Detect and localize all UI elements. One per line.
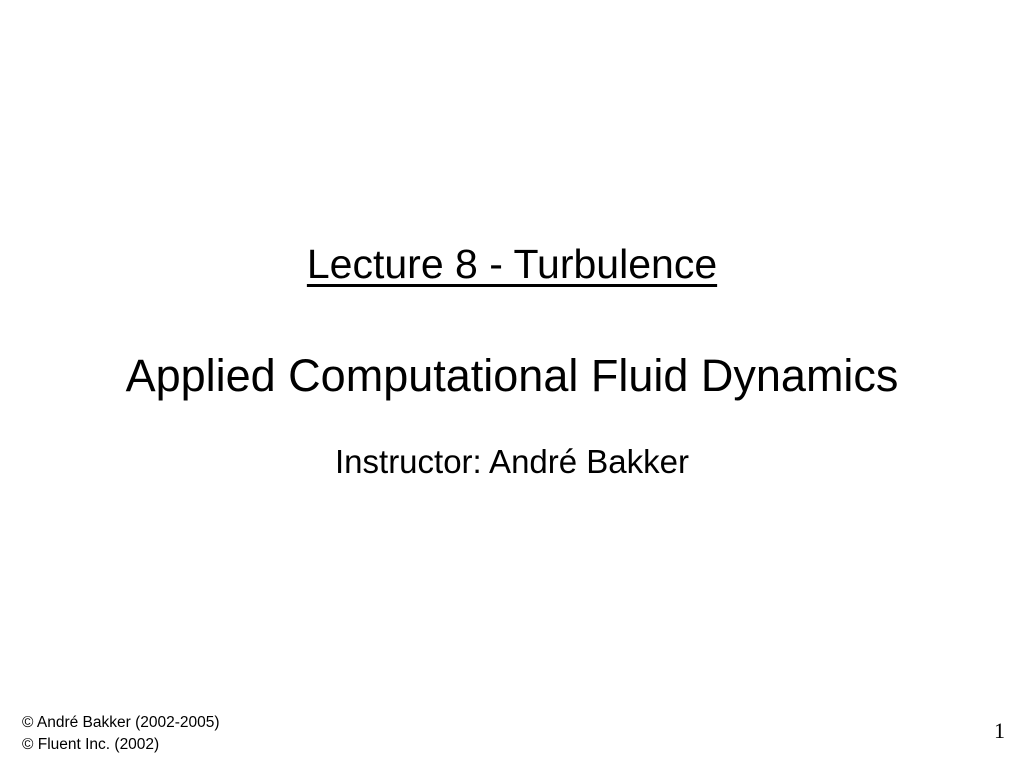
slide-subtitle-block: Applied Computational Fluid Dynamics [0,350,1024,402]
copyright-line-author: © André Bakker (2002-2005) [22,712,220,734]
page-number: 1 [994,718,1018,744]
slide-title-block: Lecture 8 - Turbulence [0,240,1024,288]
slide-instructor-block: Instructor: André Bakker [0,443,1024,481]
copyright-line-company: © Fluent Inc. (2002) [22,734,220,756]
instructor-label: Instructor: André Bakker [335,443,689,481]
page-title: Lecture 8 - Turbulence [307,240,717,288]
footer-copyright: © André Bakker (2002-2005) © Fluent Inc.… [22,712,220,756]
presentation-slide: Lecture 8 - Turbulence Applied Computati… [0,0,1024,768]
course-subtitle: Applied Computational Fluid Dynamics [126,350,899,402]
